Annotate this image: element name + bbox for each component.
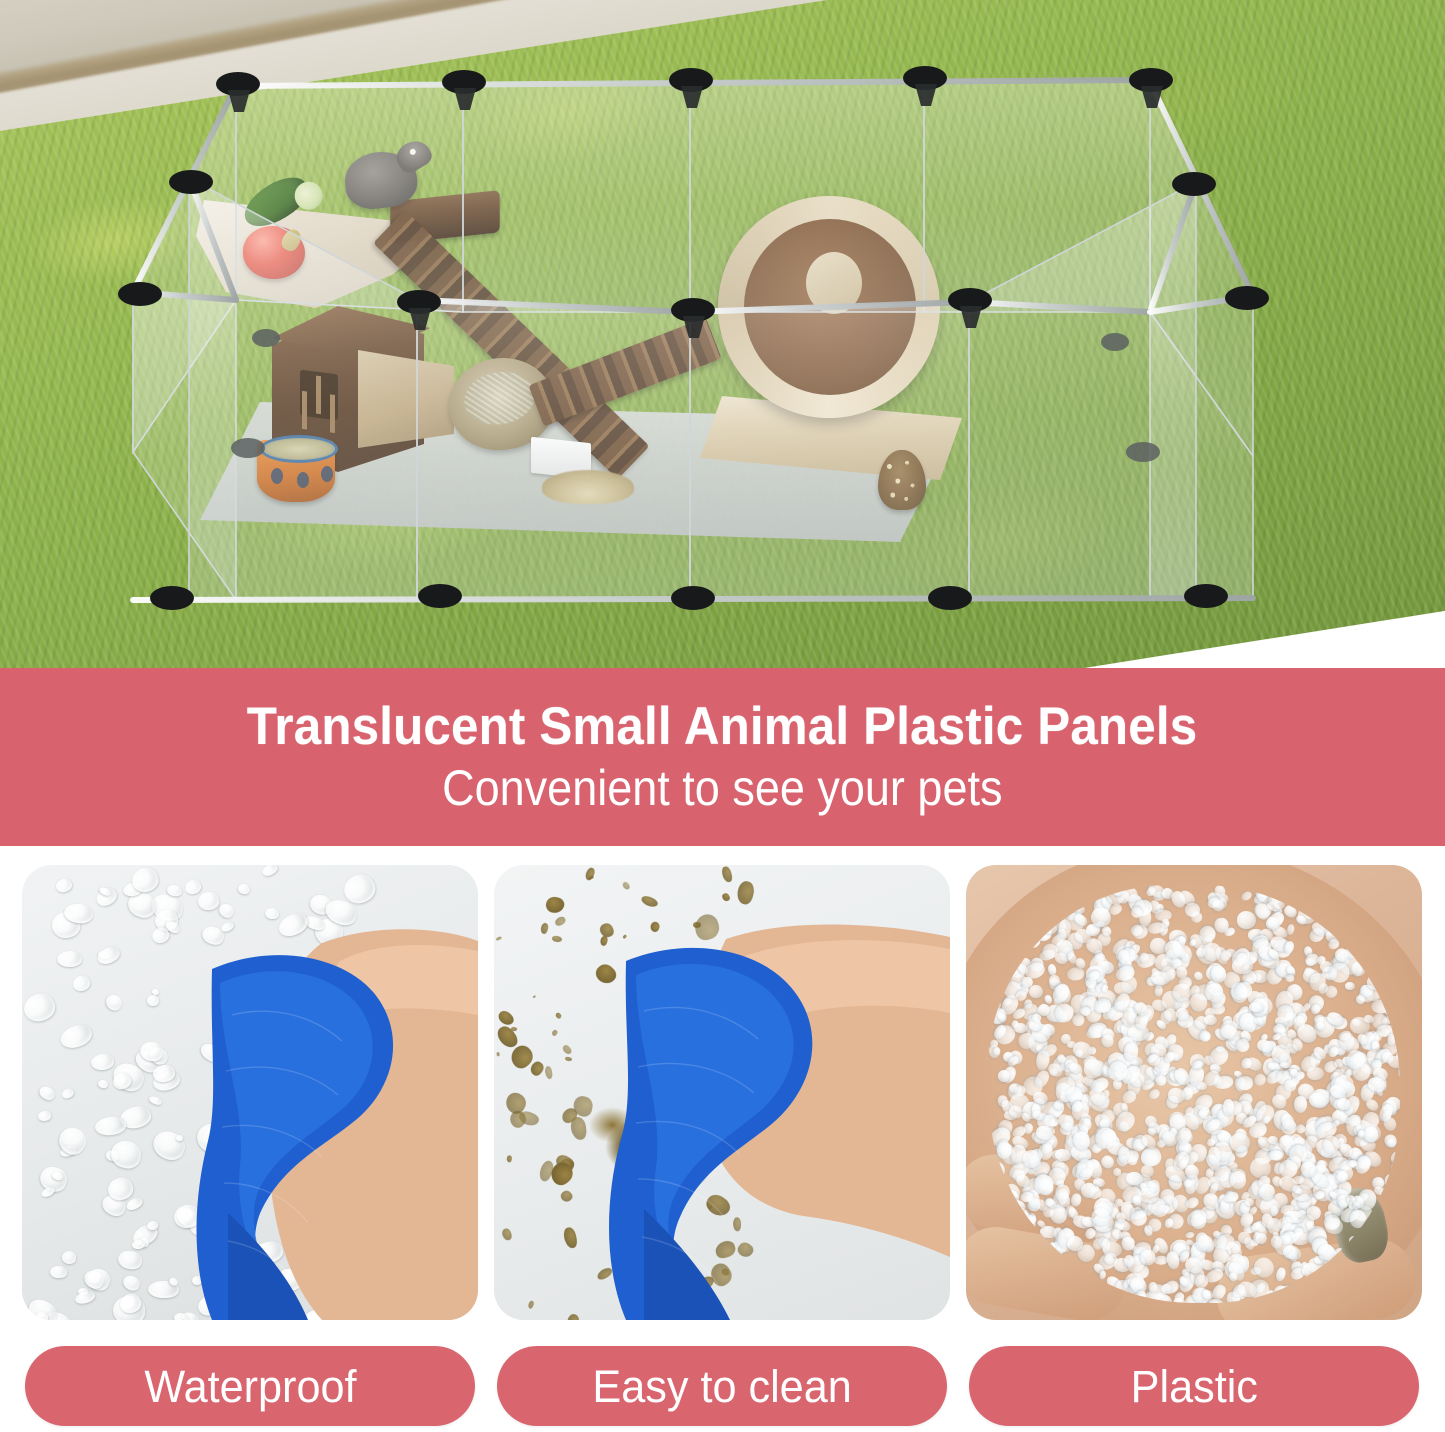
plastic-pellet (1240, 889, 1254, 902)
hero-product-photo (0, 0, 1445, 668)
plastic-pellet (1268, 1299, 1279, 1303)
feature-pill-easy-to-clean[interactable]: Easy to clean (497, 1346, 947, 1426)
plastic-photo (966, 865, 1422, 1320)
plastic-pellet (1053, 894, 1067, 906)
feature-label: Plastic (1130, 1364, 1257, 1409)
easy-to-clean-photo (494, 865, 950, 1320)
feature-card-plastic: Plastic (966, 860, 1422, 1432)
playpen-assembly (0, 0, 1445, 668)
plastic-pellet (1193, 970, 1205, 982)
plastic-pellet (1286, 924, 1295, 936)
plastic-pellet (1275, 1266, 1287, 1282)
plastic-pellet (997, 1229, 1007, 1237)
feature-row: Waterproof (0, 860, 1445, 1432)
plastic-pellet (1029, 984, 1045, 999)
feature-pill-waterproof[interactable]: Waterproof (25, 1346, 475, 1426)
plastic-pellet (1307, 1206, 1321, 1220)
banner-title: Translucent Small Animal Plastic Panels (247, 699, 1198, 754)
plastic-pellet (1042, 923, 1057, 935)
plastic-pellet (1236, 911, 1256, 930)
feature-pill-plastic[interactable]: Plastic (969, 1346, 1419, 1426)
banner-subtitle: Convenient to see your pets (442, 762, 1002, 815)
plastic-pellet (1204, 1015, 1218, 1025)
plastic-pellet (1285, 975, 1295, 982)
headline-banner: Translucent Small Animal Plastic Panels … (0, 668, 1445, 846)
feature-card-waterproof: Waterproof (22, 860, 478, 1432)
plastic-pellet (993, 1047, 1000, 1056)
plastic-pellet (1139, 952, 1149, 963)
hand-with-cloth-waterproof (22, 865, 478, 1320)
plastic-pellet (1066, 968, 1084, 982)
plastic-pellet (1099, 1270, 1107, 1280)
plastic-pellet (1070, 1192, 1082, 1206)
feature-label: Easy to clean (592, 1364, 851, 1409)
plastic-pellet (1250, 1254, 1278, 1282)
plastic-pellets (988, 885, 1400, 1303)
plastic-pellet (1305, 957, 1315, 966)
plastic-pellet (1237, 1076, 1253, 1090)
hand-with-cloth-clean (494, 865, 950, 1320)
feature-card-easy-to-clean: Easy to clean (494, 860, 950, 1432)
feature-label: Waterproof (144, 1364, 356, 1409)
plastic-pellet (1345, 982, 1355, 990)
plastic-pellet (1154, 910, 1171, 921)
plastic-pellet (1022, 977, 1033, 988)
plastic-pellet (1387, 1054, 1400, 1069)
waterproof-photo (22, 865, 478, 1320)
plastic-pellet (1117, 950, 1129, 964)
plastic-pellet (1184, 1231, 1194, 1239)
plastic-pellet (1324, 1215, 1340, 1230)
panel-frame (0, 0, 1445, 668)
plastic-pellet (1294, 1096, 1307, 1113)
